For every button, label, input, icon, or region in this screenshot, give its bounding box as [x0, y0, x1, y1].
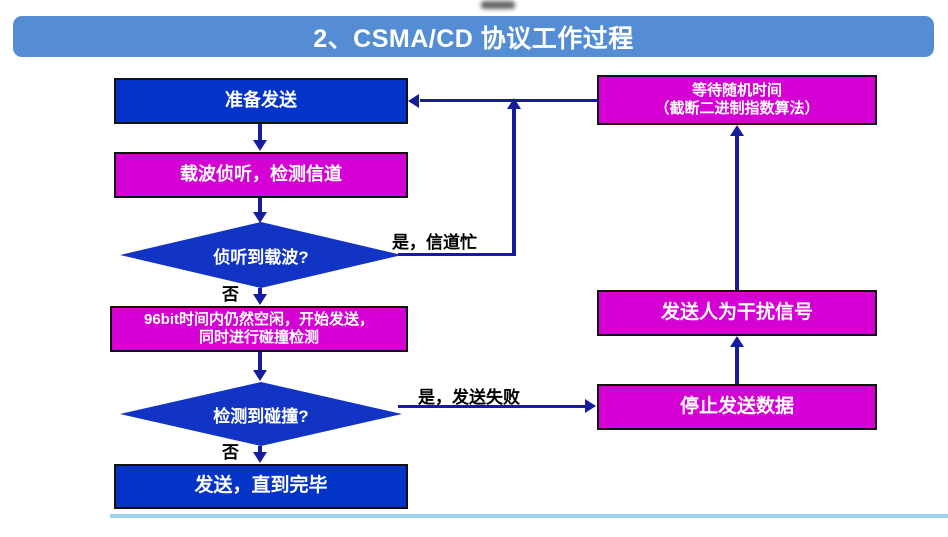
arrowhead-stop-send-to-jam-signal	[730, 336, 744, 347]
node-carrier-detected-decision: 侦听到载波?	[120, 222, 402, 288]
node-wait-random-backoff-line1: 等待随机时间	[654, 82, 819, 100]
connector-carrier-busy-horizontal	[398, 253, 516, 256]
node-send-after-96bit: 96bit时间内仍然空闲，开始发送， 同时进行碰撞检测	[110, 306, 408, 352]
node-wait-random-backoff: 等待随机时间 （截断二进制指数算法）	[597, 75, 877, 125]
edge-label-channel-busy: 是，信道忙	[392, 228, 477, 253]
top-artifact	[481, 1, 515, 9]
connector-stop-send-to-jam-signal	[735, 344, 739, 384]
arrowhead-prepare-to-sense	[253, 140, 267, 151]
node-send-until-done-label: 发送，直到完毕	[188, 475, 333, 497]
connector-carrier-busy-vertical	[512, 106, 516, 256]
node-wait-random-backoff-line2: （截断二进制指数算法）	[654, 100, 819, 118]
arrowhead-wait-random-to-prepare	[408, 94, 419, 108]
arrowhead-jam-signal-to-wait-random	[730, 125, 744, 136]
arrowhead-collision-decision-to-send-done	[253, 452, 267, 463]
bottom-accent-rule	[110, 514, 948, 518]
node-collision-detected-decision: 检测到碰撞?	[120, 382, 402, 446]
node-stop-sending-data: 停止发送数据	[597, 384, 877, 430]
node-prepare-send-label: 准备发送	[219, 90, 303, 111]
arrowhead-collision-to-stop-send	[585, 399, 596, 413]
slide-canvas: 2、CSMA/CD 协议工作过程 准备发送 载波侦听，检测信道 侦听到载波? 9…	[0, 0, 948, 537]
node-carrier-sense-label: 载波侦听，检测信道	[174, 164, 348, 185]
connector-wait-random-to-prepare	[420, 99, 598, 102]
edge-label-send-failed: 是，发送失败	[418, 383, 520, 408]
node-wait-random-backoff-text: 等待随机时间 （截断二进制指数算法）	[648, 82, 825, 117]
node-stop-sending-data-label: 停止发送数据	[674, 396, 800, 418]
edge-label-no-carrier: 否	[222, 280, 239, 305]
node-send-after-96bit-line1: 96bit时间内仍然空闲，开始发送，	[144, 311, 374, 329]
node-send-jam-signal: 发送人为干扰信号	[597, 290, 877, 336]
arrowhead-carrier-decision-to-96bit	[253, 294, 267, 305]
edge-label-no-collision: 否	[222, 438, 239, 463]
node-prepare-send: 准备发送	[114, 78, 408, 124]
connector-jam-signal-to-wait-random	[735, 133, 739, 290]
slide-title-banner: 2、CSMA/CD 协议工作过程	[13, 16, 934, 57]
arrowhead-sense-to-carrier-decision	[253, 212, 267, 223]
node-collision-detected-label: 检测到碰撞?	[213, 402, 308, 427]
node-send-after-96bit-line2: 同时进行碰撞检测	[144, 329, 374, 347]
node-send-after-96bit-text: 96bit时间内仍然空闲，开始发送， 同时进行碰撞检测	[138, 311, 380, 346]
node-carrier-sense: 载波侦听，检测信道	[114, 152, 408, 198]
node-send-until-done: 发送，直到完毕	[114, 464, 408, 509]
page-title: 2、CSMA/CD 协议工作过程	[313, 19, 634, 55]
node-carrier-detected-label: 侦听到载波?	[213, 243, 308, 268]
arrowhead-96bit-to-collision-decision	[253, 370, 267, 381]
node-send-jam-signal-label: 发送人为干扰信号	[655, 302, 819, 324]
